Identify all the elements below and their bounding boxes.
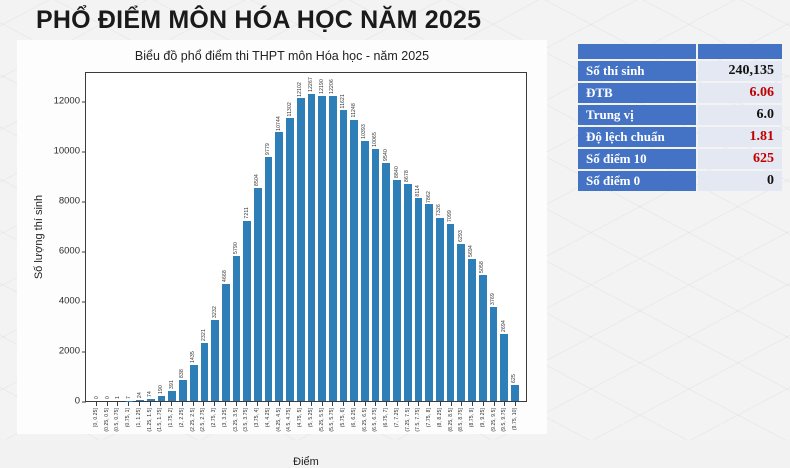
tick-mark xyxy=(246,402,247,406)
table-row: Số thí sinh240,135 xyxy=(578,61,782,81)
bar-slot[interactable]: 12102 xyxy=(295,73,306,401)
bar-value-label: 7211 xyxy=(245,207,250,219)
x-axis-tick-label: (8.5, 8.75] xyxy=(459,408,464,432)
stat-value: 625 xyxy=(698,149,782,169)
x-axis-tick: (7.25, 7.5] xyxy=(403,402,414,454)
bar-slot[interactable]: 10744 xyxy=(274,73,285,401)
tick-mark xyxy=(504,402,505,406)
bar-value-label: 12267 xyxy=(309,77,314,92)
x-axis-tick: (5.75, 6] xyxy=(338,402,349,454)
bar[interactable] xyxy=(147,399,155,401)
x-axis-tick: (3.75, 4] xyxy=(252,402,263,454)
tick-mark xyxy=(268,402,269,406)
x-axis-tick-label: (5.25, 5.5] xyxy=(320,408,325,432)
bar-value-label: 1435 xyxy=(191,351,196,363)
x-axis-tick: (0.5, 0.75] xyxy=(113,402,124,454)
tick-mark xyxy=(472,402,473,406)
x-axis-tick: (6.25, 6.5] xyxy=(360,402,371,454)
bar[interactable] xyxy=(201,343,209,401)
bar[interactable] xyxy=(243,221,251,401)
x-axis-tick-label: (3.75, 4] xyxy=(255,408,260,427)
table-row: Trung vị6.0 xyxy=(578,105,782,125)
bar-slot[interactable]: 6293 xyxy=(456,73,467,401)
x-axis-tick: (6.75, 7] xyxy=(381,402,392,454)
bar-value-label: 0 xyxy=(106,396,111,399)
x-axis-tick: (8, 8.25] xyxy=(435,402,446,454)
bar[interactable] xyxy=(329,96,337,401)
x-axis-tick: (5.5, 5.75] xyxy=(328,402,339,454)
x-axis-tick-label: (8.75, 9] xyxy=(470,408,475,427)
y-axis-label: Số lượng thí sinh xyxy=(33,147,45,327)
x-axis-tick-label: (4.5, 4.75] xyxy=(287,408,292,432)
bar-value-label: 8114 xyxy=(416,185,421,197)
bar[interactable] xyxy=(436,218,444,401)
tick-mark xyxy=(365,402,366,406)
bar[interactable] xyxy=(361,141,369,401)
bar-value-label: 10065 xyxy=(373,132,378,147)
bar-value-label: 9540 xyxy=(384,149,389,161)
bar-slot[interactable]: 10393 xyxy=(360,73,371,401)
y-axis-tick: 8000 xyxy=(59,196,86,207)
x-axis-tick-label: (6.75, 7] xyxy=(384,408,389,427)
bar-value-label: 391 xyxy=(170,380,175,389)
stat-value: 1.81 xyxy=(698,127,782,147)
bar-value-label: 12102 xyxy=(298,82,303,97)
tick-mark xyxy=(300,402,301,406)
bar-value-label: 4668 xyxy=(223,270,228,282)
bar-value-label: 7862 xyxy=(427,191,432,203)
bar-slot[interactable]: 10065 xyxy=(370,73,381,401)
bar[interactable] xyxy=(372,149,380,401)
tick-mark xyxy=(182,402,183,406)
x-axis-tick-label: (4, 4.25] xyxy=(266,408,271,427)
x-axis-tick: (8.75, 9] xyxy=(467,402,478,454)
x-axis-tick-label: (3, 3.25] xyxy=(223,408,228,427)
stat-label: Trung vị xyxy=(578,105,696,125)
table-row: Độ lệch chuẩn1.81 xyxy=(578,127,782,147)
bar-value-label: 2321 xyxy=(202,329,207,341)
x-axis-tick: (7.5, 7.75] xyxy=(414,402,425,454)
bar-slot[interactable]: 11621 xyxy=(338,73,349,401)
bar-slot[interactable]: 3769 xyxy=(488,73,499,401)
bar[interactable] xyxy=(382,163,390,402)
x-axis-label: Điểm xyxy=(85,456,527,468)
x-axis-tick-label: [0, 0.25] xyxy=(94,408,99,427)
bar[interactable] xyxy=(168,391,176,401)
x-axis-tick-label: (0.75, 1] xyxy=(126,408,131,427)
x-axis-tick: (6, 6.25] xyxy=(349,402,360,454)
y-axis-tick: 2000 xyxy=(59,346,86,357)
tick-mark xyxy=(461,402,462,406)
x-axis-tick-label: (9.25, 9.5] xyxy=(492,408,497,432)
tick-mark xyxy=(160,402,161,406)
tick-mark xyxy=(107,402,108,406)
x-axis-tick-label: (5, 5.25] xyxy=(309,408,314,427)
bar-value-label: 5694 xyxy=(469,245,474,257)
x-axis-tick-label: (1.25, 1.5] xyxy=(148,408,153,432)
bar-value-label: 190 xyxy=(159,385,164,394)
bar-slot[interactable]: 9540 xyxy=(381,73,392,401)
bar-slot[interactable]: 4668 xyxy=(220,73,231,401)
bar-slot[interactable]: 3232 xyxy=(210,73,221,401)
bar-slot[interactable]: 9779 xyxy=(263,73,274,401)
bar-slot[interactable]: 2694 xyxy=(499,73,510,401)
x-axis-tick-label: (8, 8.25] xyxy=(438,408,443,427)
bar-slot[interactable]: 7 xyxy=(124,73,135,401)
x-axis-tick: (9.25, 9.5] xyxy=(489,402,500,454)
table-row: Số điểm 00 xyxy=(578,171,782,191)
table-header-cell xyxy=(698,44,782,59)
x-axis-tick: (2.25, 2.5] xyxy=(188,402,199,454)
bar-slot[interactable]: 5790 xyxy=(231,73,242,401)
tick-mark xyxy=(150,402,151,406)
tick-mark xyxy=(311,402,312,406)
bar-value-label: 12206 xyxy=(330,79,335,94)
bar-value-label: 5790 xyxy=(234,242,239,254)
bar[interactable] xyxy=(318,96,326,401)
stat-value: 6.06 xyxy=(698,83,782,103)
bar-slot[interactable]: 838 xyxy=(178,73,189,401)
y-axis-tick: 6000 xyxy=(59,246,86,257)
bar[interactable] xyxy=(393,180,401,401)
stat-label: ĐTB xyxy=(578,83,696,103)
x-axis-tick: (3, 3.25] xyxy=(220,402,231,454)
bar[interactable] xyxy=(254,188,262,401)
x-axis-tick: (5, 5.25] xyxy=(306,402,317,454)
plot-area: 020004000600080001000012000 001724741903… xyxy=(85,72,527,402)
x-axis-tick-label: (4.75, 5] xyxy=(298,408,303,427)
bar-value-label: 3769 xyxy=(491,293,496,305)
chart-panel: Biểu đồ phổ điểm thi THPT môn Hóa học - … xyxy=(17,40,547,434)
tick-mark xyxy=(289,402,290,406)
bar[interactable] xyxy=(479,275,487,401)
x-axis-tick: (3.25, 3.5] xyxy=(231,402,242,454)
tick-mark xyxy=(96,402,97,406)
x-axis-tick-label: (7.75, 8] xyxy=(427,408,432,427)
stat-label: Số điểm 0 xyxy=(578,171,696,191)
x-axis-tick: (8.5, 8.75] xyxy=(457,402,468,454)
bar-slot[interactable]: 1 xyxy=(113,73,124,401)
bar[interactable] xyxy=(350,120,358,401)
x-axis-tick: (4, 4.25] xyxy=(263,402,274,454)
bar[interactable] xyxy=(447,224,455,401)
bar-slot[interactable]: 11302 xyxy=(285,73,296,401)
bar-value-label: 24 xyxy=(138,392,143,398)
tick-mark xyxy=(386,402,387,406)
bar[interactable] xyxy=(158,396,166,401)
tick-mark xyxy=(354,402,355,406)
bar-slot[interactable]: 8504 xyxy=(253,73,264,401)
x-axis-tick-label: (9, 9.25] xyxy=(481,408,486,427)
x-axis-tick: (7.75, 8] xyxy=(424,402,435,454)
bar-value-label: 0 xyxy=(95,396,100,399)
bar-slot[interactable]: 7326 xyxy=(435,73,446,401)
x-axis-tick-label: (9.5, 9.75] xyxy=(502,408,507,432)
bar[interactable] xyxy=(211,320,219,401)
x-axis-tick: (6.5, 6.75] xyxy=(371,402,382,454)
bar-slot[interactable]: 0 xyxy=(103,73,114,401)
bar[interactable] xyxy=(286,118,294,401)
bar[interactable] xyxy=(297,98,305,401)
x-axis-tick: (0.75, 1] xyxy=(123,402,134,454)
bar[interactable] xyxy=(500,334,508,401)
bar-slot[interactable]: 190 xyxy=(156,73,167,401)
bar[interactable] xyxy=(457,244,465,401)
bar-slot[interactable]: 1435 xyxy=(188,73,199,401)
bar-slot[interactable]: 5694 xyxy=(467,73,478,401)
chart-title: Biểu đồ phổ điểm thi THPT môn Hóa học - … xyxy=(17,49,547,63)
bar-value-label: 8504 xyxy=(255,174,260,186)
stat-label: Độ lệch chuẩn xyxy=(578,127,696,147)
bar[interactable] xyxy=(415,198,423,401)
bar-slot[interactable]: 0 xyxy=(92,73,103,401)
tick-mark xyxy=(408,402,409,406)
bar-value-label: 3232 xyxy=(213,306,218,318)
bar-value-label: 10744 xyxy=(277,116,282,131)
x-axis-tick-label: (6.25, 6.5] xyxy=(363,408,368,432)
bar[interactable] xyxy=(490,307,498,401)
bar-value-label: 11302 xyxy=(288,102,293,117)
tick-mark xyxy=(225,402,226,406)
x-axis-tick-label: (5.5, 5.75] xyxy=(330,408,335,432)
x-axis-tick-label: (7, 7.25] xyxy=(395,408,400,427)
tick-mark xyxy=(139,402,140,406)
tick-mark xyxy=(418,402,419,406)
bar[interactable] xyxy=(468,259,476,401)
tick-mark xyxy=(171,402,172,406)
y-axis-label-wrap: Số lượng thí sinh xyxy=(29,72,45,402)
tick-mark xyxy=(279,402,280,406)
bar-slot[interactable]: 12190 xyxy=(317,73,328,401)
bar-slot[interactable]: 7862 xyxy=(424,73,435,401)
bar[interactable] xyxy=(425,204,433,401)
bar-value-label: 625 xyxy=(512,374,517,383)
x-axis-tick: (9.75, 10] xyxy=(510,402,521,454)
tick-mark xyxy=(128,402,129,406)
bar-value-label: 7 xyxy=(127,396,132,399)
x-axis-tick-label: (8.25, 8.5] xyxy=(449,408,454,432)
x-axis-tick: (1.25, 1.5] xyxy=(145,402,156,454)
bar-slot[interactable]: 7211 xyxy=(242,73,253,401)
bar-slot[interactable]: 11248 xyxy=(349,73,360,401)
bar-value-label: 7326 xyxy=(437,204,442,216)
tick-mark xyxy=(375,402,376,406)
x-axis-tick: (8.25, 8.5] xyxy=(446,402,457,454)
x-axis-tick-label: (2.5, 2.75] xyxy=(201,408,206,432)
bar-slot[interactable]: 74 xyxy=(146,73,157,401)
y-axis-tick: 10000 xyxy=(54,146,86,157)
x-axis-tick: (5.25, 5.5] xyxy=(317,402,328,454)
x-axis-tick-label: (2, 2.25] xyxy=(180,408,185,427)
tick-mark xyxy=(257,402,258,406)
x-axis-tick: (0.25, 0.5] xyxy=(102,402,113,454)
bar[interactable] xyxy=(404,184,412,401)
stat-value: 0 xyxy=(698,171,782,191)
bar-slot[interactable]: 5058 xyxy=(477,73,488,401)
x-axis-ticks: [0, 0.25](0.25, 0.5](0.5, 0.75](0.75, 1]… xyxy=(85,402,527,454)
bar[interactable] xyxy=(179,380,187,401)
bar-value-label: 2694 xyxy=(502,320,507,332)
x-axis-tick-label: (2.25, 2.5] xyxy=(191,408,196,432)
x-axis-tick: (9.5, 9.75] xyxy=(500,402,511,454)
tick-mark xyxy=(236,402,237,406)
x-axis-tick-label: (3.5, 3.75] xyxy=(244,408,249,432)
x-axis-tick-label: (4.25, 4.5] xyxy=(277,408,282,432)
x-axis-tick-label: (1.75, 2] xyxy=(169,408,174,427)
bar-value-label: 6293 xyxy=(459,230,464,242)
x-axis-tick: (9, 9.25] xyxy=(478,402,489,454)
x-axis-tick: (4.5, 4.75] xyxy=(285,402,296,454)
table-header-cell xyxy=(578,44,696,59)
bar-slot[interactable]: 8114 xyxy=(413,73,424,401)
bar-value-label: 10393 xyxy=(362,124,367,139)
bar[interactable] xyxy=(190,365,198,401)
tick-mark xyxy=(214,402,215,406)
bar-slot[interactable]: 391 xyxy=(167,73,178,401)
x-axis-tick-label: (7.25, 7.5] xyxy=(406,408,411,432)
tick-mark xyxy=(193,402,194,406)
bar[interactable] xyxy=(511,385,519,401)
bar[interactable] xyxy=(136,400,144,401)
tick-mark xyxy=(515,402,516,406)
tick-mark xyxy=(397,402,398,406)
bar-slot[interactable]: 12267 xyxy=(306,73,317,401)
y-axis-tick: 4000 xyxy=(59,296,86,307)
x-axis-tick: (2.75, 3] xyxy=(209,402,220,454)
x-axis-tick-label: (7.5, 7.75] xyxy=(416,408,421,432)
bar-slot[interactable]: 12206 xyxy=(327,73,338,401)
bar[interactable] xyxy=(265,157,273,401)
tick-mark xyxy=(203,402,204,406)
y-axis-tick: 12000 xyxy=(54,96,86,107)
tick-mark xyxy=(494,402,495,406)
statistics-table-body: Số thí sinh240,135ĐTB6.06Trung vị6.0Độ l… xyxy=(578,44,782,191)
page-title: PHỔ ĐIỂM MÔN HÓA HỌC NĂM 2025 xyxy=(36,6,481,35)
bar-slot[interactable]: 625 xyxy=(509,73,520,401)
x-axis-tick-label: (0.25, 0.5] xyxy=(105,408,110,432)
bar[interactable] xyxy=(275,132,283,401)
bar-value-label: 5058 xyxy=(480,261,485,273)
tick-mark xyxy=(483,402,484,406)
bar-value-label: 1 xyxy=(116,396,121,399)
x-axis-tick-label: (6.5, 6.75] xyxy=(373,408,378,432)
x-axis-tick-label: (1.5, 1.75] xyxy=(158,408,163,432)
tick-mark xyxy=(117,402,118,406)
table-header-row xyxy=(578,44,782,59)
bar-slot[interactable]: 24 xyxy=(135,73,146,401)
table-row: ĐTB6.06 xyxy=(578,83,782,103)
bar-slot[interactable]: 8840 xyxy=(392,73,403,401)
bar[interactable] xyxy=(222,284,230,401)
tick-mark xyxy=(440,402,441,406)
bar[interactable] xyxy=(308,94,316,401)
x-axis-tick-label: (9.75, 10] xyxy=(513,408,518,430)
tick-mark xyxy=(322,402,323,406)
bar-value-label: 11248 xyxy=(352,103,357,118)
stat-value: 240,135 xyxy=(698,61,782,81)
x-axis-tick-label: (1, 1.25] xyxy=(137,408,142,427)
bar-value-label: 7099 xyxy=(448,210,453,222)
bar-slot[interactable]: 2321 xyxy=(199,73,210,401)
x-axis-tick-label: (2.75, 3] xyxy=(212,408,217,427)
bar[interactable] xyxy=(340,110,348,401)
bar-series: 0017247419039183814352321323246685790721… xyxy=(86,73,526,401)
bar-value-label: 11621 xyxy=(341,94,346,109)
tick-mark xyxy=(332,402,333,406)
table-row: Số điểm 10625 xyxy=(578,149,782,169)
x-axis-tick: (7, 7.25] xyxy=(392,402,403,454)
x-axis-tick: (1.75, 2] xyxy=(166,402,177,454)
statistics-table: Số thí sinh240,135ĐTB6.06Trung vị6.0Độ l… xyxy=(576,42,784,193)
bar-value-label: 74 xyxy=(148,391,153,397)
bar[interactable] xyxy=(233,256,241,401)
tick-mark xyxy=(429,402,430,406)
x-axis-tick: (3.5, 3.75] xyxy=(242,402,253,454)
bar-value-label: 8840 xyxy=(395,166,400,178)
bar-value-label: 838 xyxy=(180,369,185,378)
tick-mark xyxy=(343,402,344,406)
x-axis-tick: (4.75, 5] xyxy=(295,402,306,454)
x-axis-tick: (1, 1.25] xyxy=(134,402,145,454)
x-axis-tick-label: (6, 6.25] xyxy=(352,408,357,427)
stat-value: 6.0 xyxy=(698,105,782,125)
bar-value-label: 12190 xyxy=(320,79,325,94)
x-axis-tick: [0, 0.25] xyxy=(91,402,102,454)
bar-value-label: 8678 xyxy=(405,170,410,182)
x-axis-tick-label: (0.5, 0.75] xyxy=(115,408,120,432)
x-axis-tick: (4.25, 4.5] xyxy=(274,402,285,454)
x-axis-tick: (2.5, 2.75] xyxy=(199,402,210,454)
bar-slot[interactable]: 8678 xyxy=(402,73,413,401)
stat-label: Số thí sinh xyxy=(578,61,696,81)
x-axis-tick-label: (3.25, 3.5] xyxy=(234,408,239,432)
tick-mark xyxy=(451,402,452,406)
x-axis-tick: (2, 2.25] xyxy=(177,402,188,454)
bar-value-label: 9779 xyxy=(266,143,271,155)
stat-label: Số điểm 10 xyxy=(578,149,696,169)
x-axis-tick: (1.5, 1.75] xyxy=(156,402,167,454)
x-axis-tick-label: (5.75, 6] xyxy=(341,408,346,427)
bar-slot[interactable]: 7099 xyxy=(445,73,456,401)
